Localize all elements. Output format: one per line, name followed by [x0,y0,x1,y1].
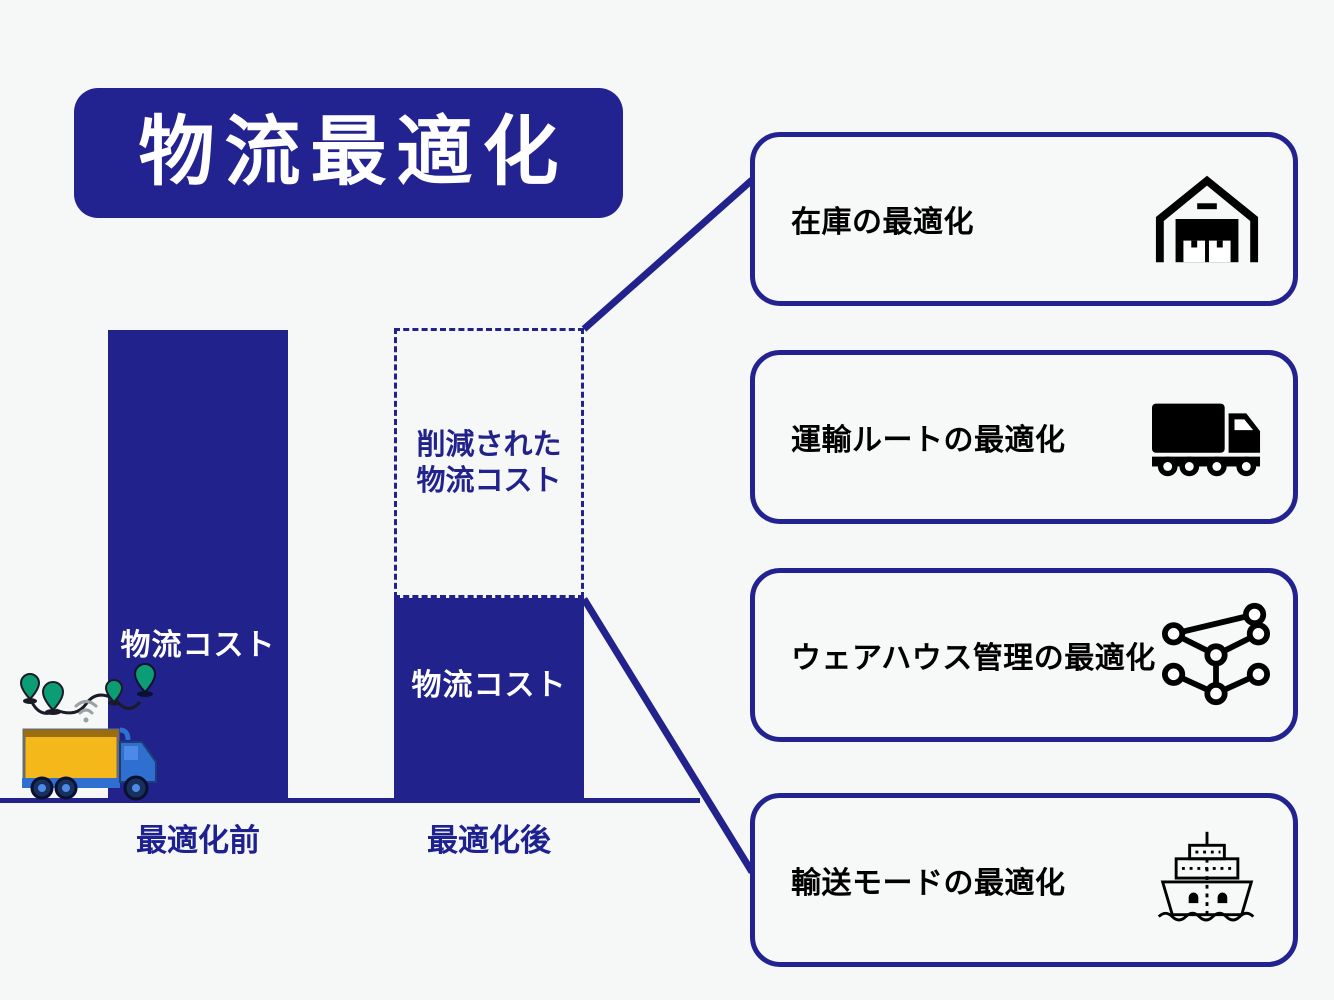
gps-pin-icon [21,674,39,704]
truck-gps-illustration [8,660,170,805]
ship-icon [1147,824,1267,936]
card-label: ウェアハウス管理の最適化 [791,633,1156,677]
gps-pin-icon [135,664,155,697]
bar-after-label: 物流コスト [412,660,567,704]
card-label: 輸送モードの最適化 [791,858,1147,902]
card-label: 在庫の最適化 [791,197,1147,241]
card-warehouse-management-optimization[interactable]: ウェアハウス管理の最適化 [750,568,1298,742]
warehouse-icon [1147,163,1267,275]
gps-pin-icon [106,680,122,706]
card-label: 運輸ルートの最適化 [791,415,1147,459]
card-transport-mode-optimization[interactable]: 輸送モードの最適化 [750,793,1298,967]
bar-before-label: 物流コスト [121,620,276,664]
network-nodes-icon [1156,599,1276,711]
axis-tick-before: 最適化前 [108,815,288,860]
saved-cost-box: 削減された 物流コスト [394,328,584,598]
truck-icon [1147,381,1267,493]
bar-after-optimization: 物流コスト [394,598,584,800]
saved-cost-label: 削減された 物流コスト [416,427,561,500]
infographic-canvas: 物流最適化 物流コスト 削減された 物流コスト 物流コスト 最適化前 最適化後 [0,0,1334,1000]
axis-tick-after: 最適化後 [394,815,584,860]
bar-chart: 物流コスト 削減された 物流コスト 物流コスト 最適化前 最適化後 [0,0,760,1000]
card-transport-route-optimization[interactable]: 運輸ルートの最適化 [750,350,1298,524]
card-inventory-optimization[interactable]: 在庫の最適化 [750,132,1298,306]
